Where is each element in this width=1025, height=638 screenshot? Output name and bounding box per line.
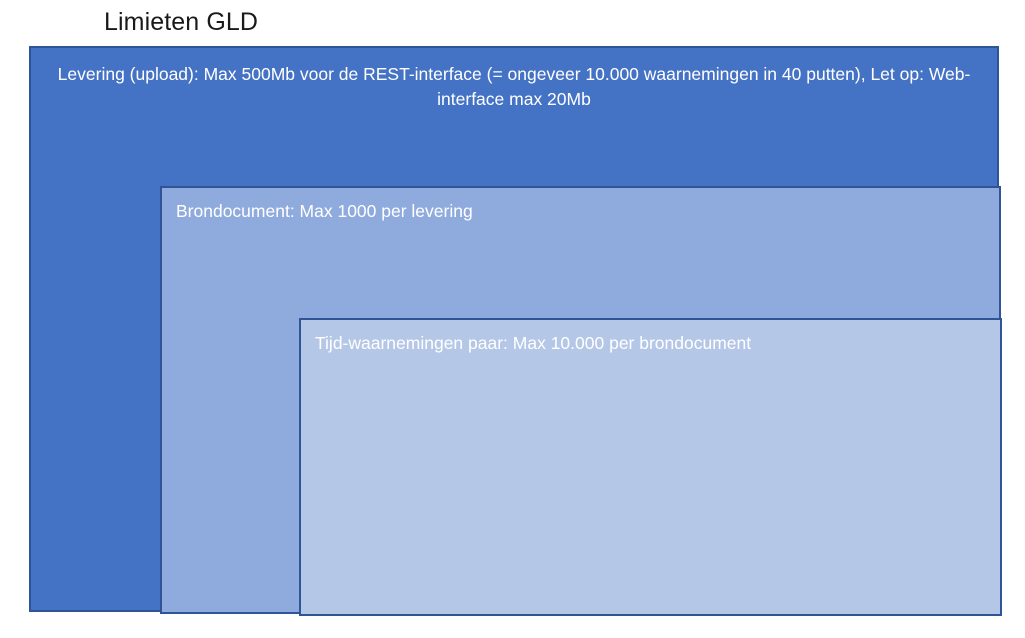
- box-levering: Levering (upload): Max 500Mb voor de RES…: [29, 46, 999, 612]
- box-tijd-waarnemingen-paar: Tijd-waarnemingen paar: Max 10.000 per b…: [299, 318, 1002, 616]
- box-levering-label: Levering (upload): Max 500Mb voor de RES…: [43, 62, 985, 112]
- page-title: Limieten GLD: [104, 6, 258, 38]
- box-brondocument-label: Brondocument: Max 1000 per levering: [176, 199, 473, 224]
- box-tijd-waarnemingen-paar-label: Tijd-waarnemingen paar: Max 10.000 per b…: [315, 331, 751, 356]
- box-brondocument: Brondocument: Max 1000 per levering Tijd…: [160, 186, 1001, 614]
